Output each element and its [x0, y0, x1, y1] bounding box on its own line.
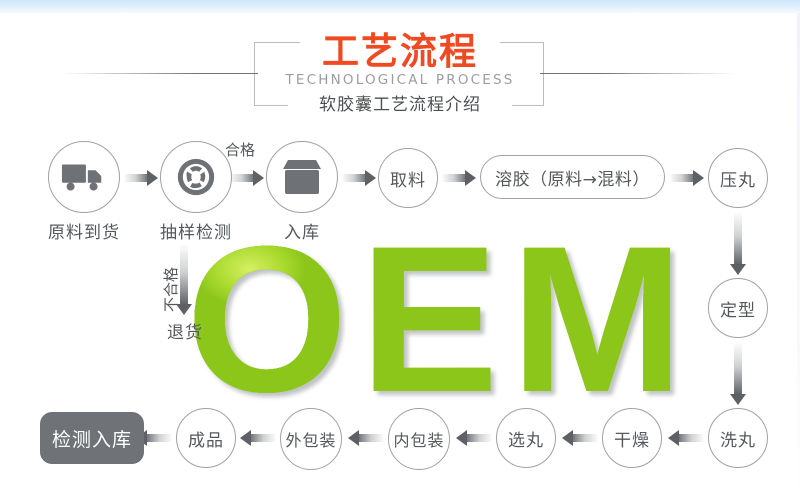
page-title: 工艺流程: [0, 32, 800, 72]
node-raw-arrival[interactable]: [48, 141, 120, 213]
label-sol-gel: 溶胶（原料→混料）: [495, 165, 650, 190]
node-dry[interactable]: 干燥: [602, 408, 662, 468]
label-finished-goods: 成品: [188, 426, 224, 451]
label-inner-package: 内包装: [393, 427, 444, 451]
header: 工艺流程 TECHNOLOGICAL PROCESS 软胶囊工艺流程介绍: [0, 14, 800, 122]
node-sol-gel[interactable]: 溶胶（原料→混料）: [480, 155, 665, 199]
arrow-left-3: [456, 428, 492, 448]
top-decorative-band: [0, 0, 800, 13]
label-take-material: 取料: [390, 166, 426, 191]
node-inspect-store[interactable]: 检测入库: [40, 412, 144, 464]
node-outer-package[interactable]: 外包装: [280, 408, 342, 470]
label-return-goods: 退货: [150, 318, 220, 343]
label-press-pill: 压丸: [720, 166, 756, 191]
node-select-pill[interactable]: 选丸: [496, 408, 556, 468]
label-pass-branch: 合格: [225, 139, 255, 160]
truck-icon: [61, 157, 107, 197]
label-outer-package: 外包装: [285, 427, 336, 451]
oem-watermark: OEM: [186, 228, 716, 413]
node-shaping[interactable]: 定型: [708, 278, 768, 338]
label-sampling: 抽样检测: [130, 218, 262, 243]
page-subtitle-en: TECHNOLOGICAL PROCESS: [0, 72, 800, 88]
node-press-pill[interactable]: 压丸: [708, 148, 768, 208]
arrow-left-4: [348, 428, 384, 448]
label-shaping: 定型: [720, 296, 756, 321]
arrow-right-1: [124, 168, 158, 188]
arrow-left-1: [668, 428, 704, 448]
node-wash[interactable]: 洗丸: [708, 408, 768, 468]
arrow-left-5: [240, 428, 276, 448]
process-flow-infographic: 工艺流程 TECHNOLOGICAL PROCESS 软胶囊工艺流程介绍 OEM…: [0, 0, 800, 499]
arrow-right-2: [230, 168, 264, 188]
node-sampling[interactable]: [160, 141, 232, 213]
arrow-right-4: [442, 168, 476, 188]
label-inspect-store: 检测入库: [52, 425, 132, 452]
arrow-right-5: [670, 168, 704, 188]
arrow-right-3: [342, 168, 376, 188]
label-wash: 洗丸: [720, 426, 756, 451]
page-subtitle-cn: 软胶囊工艺流程介绍: [0, 94, 800, 116]
inbox-down-arrow-icon: [279, 157, 325, 197]
node-inner-package[interactable]: 内包装: [388, 408, 450, 470]
arrow-down-1: [728, 213, 748, 275]
oem-watermark-text: OEM: [186, 228, 716, 413]
arrow-left-2: [562, 428, 598, 448]
node-take-material[interactable]: 取料: [378, 148, 438, 208]
chuck-inspection-icon: [173, 157, 219, 197]
label-warehouse-in: 入库: [252, 218, 352, 243]
label-dry: 干燥: [614, 426, 650, 451]
arrow-down-2: [728, 343, 748, 405]
label-fail-branch: 不合格: [160, 267, 181, 312]
label-select-pill: 选丸: [508, 426, 544, 451]
node-warehouse-in[interactable]: [266, 141, 338, 213]
node-finished-goods[interactable]: 成品: [176, 408, 236, 468]
